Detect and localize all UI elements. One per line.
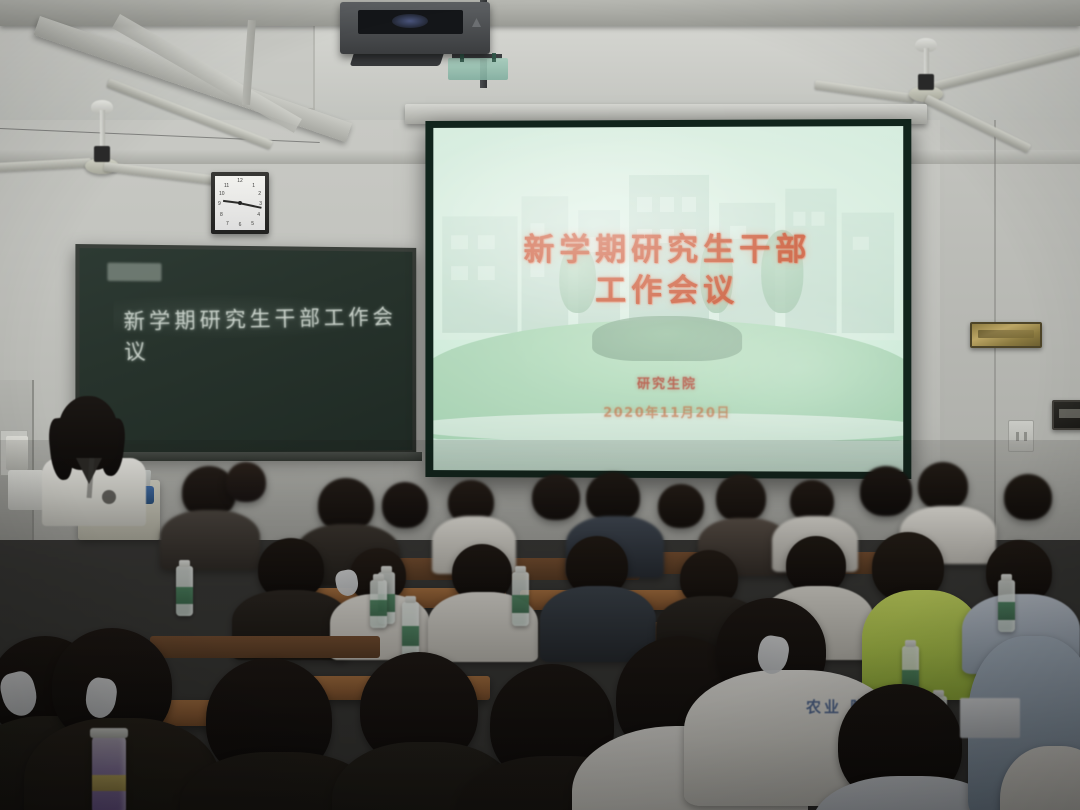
audience-head — [658, 484, 704, 528]
audience-head — [382, 482, 428, 528]
wall-clock: 12 3 6 9 1 2 4 5 7 8 10 11 — [211, 172, 269, 234]
projection-screen: 新学期研究生干部 工作会议 研究生院 2020年11月20日 — [425, 119, 911, 479]
blackboard-chalk-text: 新学期研究生干部工作会议 — [124, 300, 413, 365]
projector-mount — [350, 52, 445, 66]
slide-title: 新学期研究生干部 工作会议 — [433, 230, 903, 312]
purple-tumbler-icon — [92, 736, 126, 810]
audience-area: 园艺 陈 农业 陈群 — [0, 440, 1080, 810]
audience-head — [1004, 474, 1052, 520]
audience-head — [860, 466, 912, 516]
desk-row-front — [150, 636, 380, 658]
ceiling-fan-left-icon — [28, 50, 288, 180]
ceiling-projector-icon — [340, 2, 490, 54]
slide-title-line-2: 工作会议 — [433, 271, 903, 312]
water-bottle-icon — [998, 580, 1015, 632]
water-bottle-icon — [370, 580, 387, 628]
wall-plaque-dark-icon — [1052, 400, 1080, 430]
slide-title-line-1: 新学期研究生干部 — [433, 230, 903, 271]
audience-head — [532, 474, 580, 520]
audience-head — [716, 474, 766, 522]
projector-mount-plate — [448, 58, 508, 80]
audience-head — [226, 462, 266, 502]
audience-shoulders — [160, 510, 260, 570]
wall-plaque-gold-icon — [970, 322, 1042, 348]
audience-head — [918, 462, 968, 510]
audience-head — [586, 472, 640, 522]
ceiling-beam-main — [0, 0, 1080, 26]
slide-date: 2020年11月20日 — [433, 402, 903, 422]
desk-papers — [960, 698, 1020, 738]
classroom-photo: 12 3 6 9 1 2 4 5 7 8 10 11 新学期研究生干部工作会议 — [0, 0, 1080, 810]
water-bottle-icon — [512, 572, 529, 626]
slide-organizer: 研究生院 — [433, 373, 903, 393]
water-bottle-icon — [176, 566, 193, 616]
